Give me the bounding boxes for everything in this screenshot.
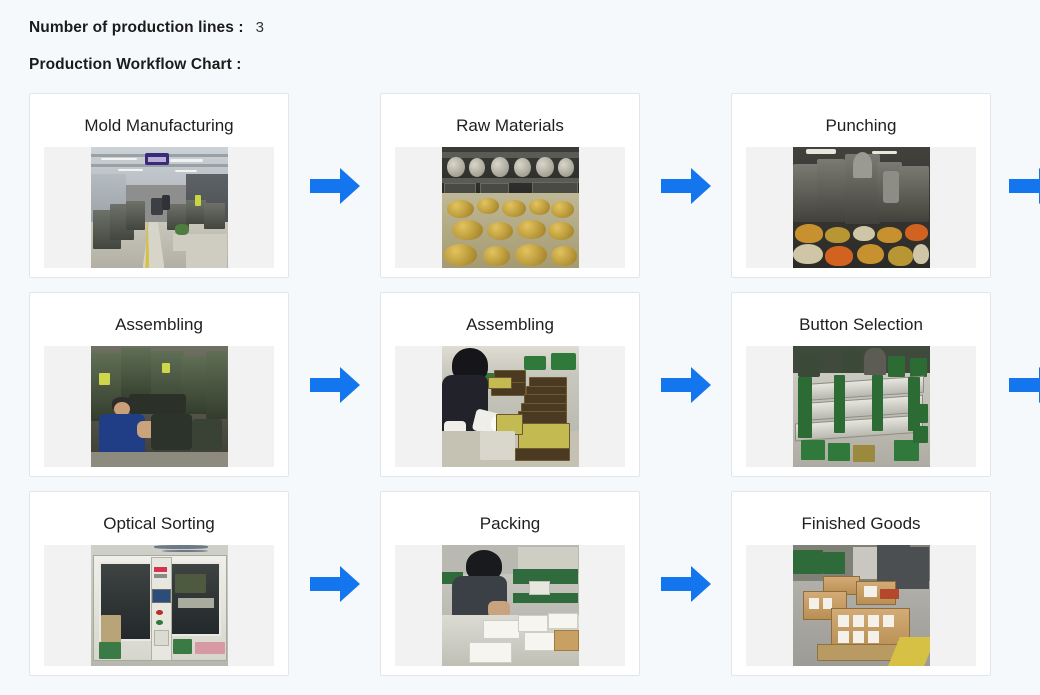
workflow-step-image-frame	[395, 545, 625, 666]
workflow-step-card[interactable]: Packing	[380, 491, 640, 676]
workflow-step-title: Raw Materials	[456, 94, 564, 147]
workflow-arrow-cell	[640, 491, 731, 676]
workflow-step-title: Assembling	[115, 293, 203, 346]
workflow-row: Optical Sorting	[29, 491, 1040, 676]
workflow-step-title: Assembling	[466, 293, 554, 346]
factory-machining-hall-photo	[91, 147, 228, 268]
workflow-step-title: Button Selection	[799, 293, 923, 346]
workflow-arrow-cell	[991, 292, 1040, 477]
workflow-arrow-cell	[289, 93, 380, 278]
workflow-chart-label: Production Workflow Chart :	[29, 56, 242, 74]
arrow-right-icon	[310, 168, 360, 204]
workflow-step-image-frame	[44, 346, 274, 467]
worker-sorting-trays-photo	[442, 346, 579, 467]
workflow-step-card[interactable]: Mold Manufacturing	[29, 93, 289, 278]
workflow-step-card[interactable]: Button Selection	[731, 292, 991, 477]
arrow-right-icon	[661, 566, 711, 602]
workflow-step-image-frame	[44, 147, 274, 268]
workflow-arrow-cell	[991, 491, 1040, 676]
workflow-step-title: Optical Sorting	[103, 492, 215, 545]
workflow-step-card[interactable]: Assembling	[380, 292, 640, 477]
workflow-arrow-cell	[289, 292, 380, 477]
workflow-row: Mold Manufacturing	[29, 93, 1040, 278]
workflow-arrow-cell	[640, 292, 731, 477]
workflow-row: Assembling	[29, 292, 1040, 477]
workflow-step-card[interactable]: Assembling	[29, 292, 289, 477]
workflow-step-title: Finished Goods	[801, 492, 920, 545]
arrow-right-icon	[310, 566, 360, 602]
production-lines-value: 3	[256, 19, 264, 36]
workflow-step-card[interactable]: Finished Goods	[731, 491, 991, 676]
production-workflow-chart: Mold Manufacturing	[0, 93, 1040, 676]
workflow-arrow-cell	[640, 93, 731, 278]
workflow-step-image-frame	[395, 147, 625, 268]
production-lines-row: Number of production lines : 3	[29, 0, 1040, 37]
button-selection-conveyor-photo	[793, 346, 930, 467]
optical-sorting-machine-photo	[91, 545, 228, 666]
arrow-right-icon	[661, 168, 711, 204]
brass-raw-material-parts-photo	[442, 147, 579, 268]
workflow-step-image-frame	[44, 545, 274, 666]
workflow-step-image-frame	[746, 346, 976, 467]
workflow-step-image-frame	[746, 545, 976, 666]
workflow-step-card[interactable]: Raw Materials	[380, 93, 640, 278]
workflow-step-image-frame	[395, 346, 625, 467]
worker-at-assembly-machine-photo	[91, 346, 228, 467]
workflow-arrow-cell	[991, 93, 1040, 278]
workflow-chart-row: Production Workflow Chart :	[29, 37, 1040, 74]
workflow-step-image-frame	[746, 147, 976, 268]
finished-goods-cartons-pallet-photo	[793, 545, 930, 666]
workflow-step-title: Punching	[826, 94, 897, 147]
workflow-step-card[interactable]: Optical Sorting	[29, 491, 289, 676]
workflow-arrow-cell	[289, 491, 380, 676]
worker-packing-table-photo	[442, 545, 579, 666]
arrow-right-icon	[1009, 367, 1040, 403]
header-block: Number of production lines : 3 Productio…	[0, 0, 1040, 74]
arrow-right-icon	[1009, 168, 1040, 204]
punching-machines-workshop-photo	[793, 147, 930, 268]
workflow-step-title: Packing	[480, 492, 540, 545]
workflow-step-title: Mold Manufacturing	[84, 94, 233, 147]
production-lines-label: Number of production lines :	[29, 19, 244, 37]
arrow-right-icon	[661, 367, 711, 403]
workflow-step-card[interactable]: Punching	[731, 93, 991, 278]
arrow-right-icon	[310, 367, 360, 403]
